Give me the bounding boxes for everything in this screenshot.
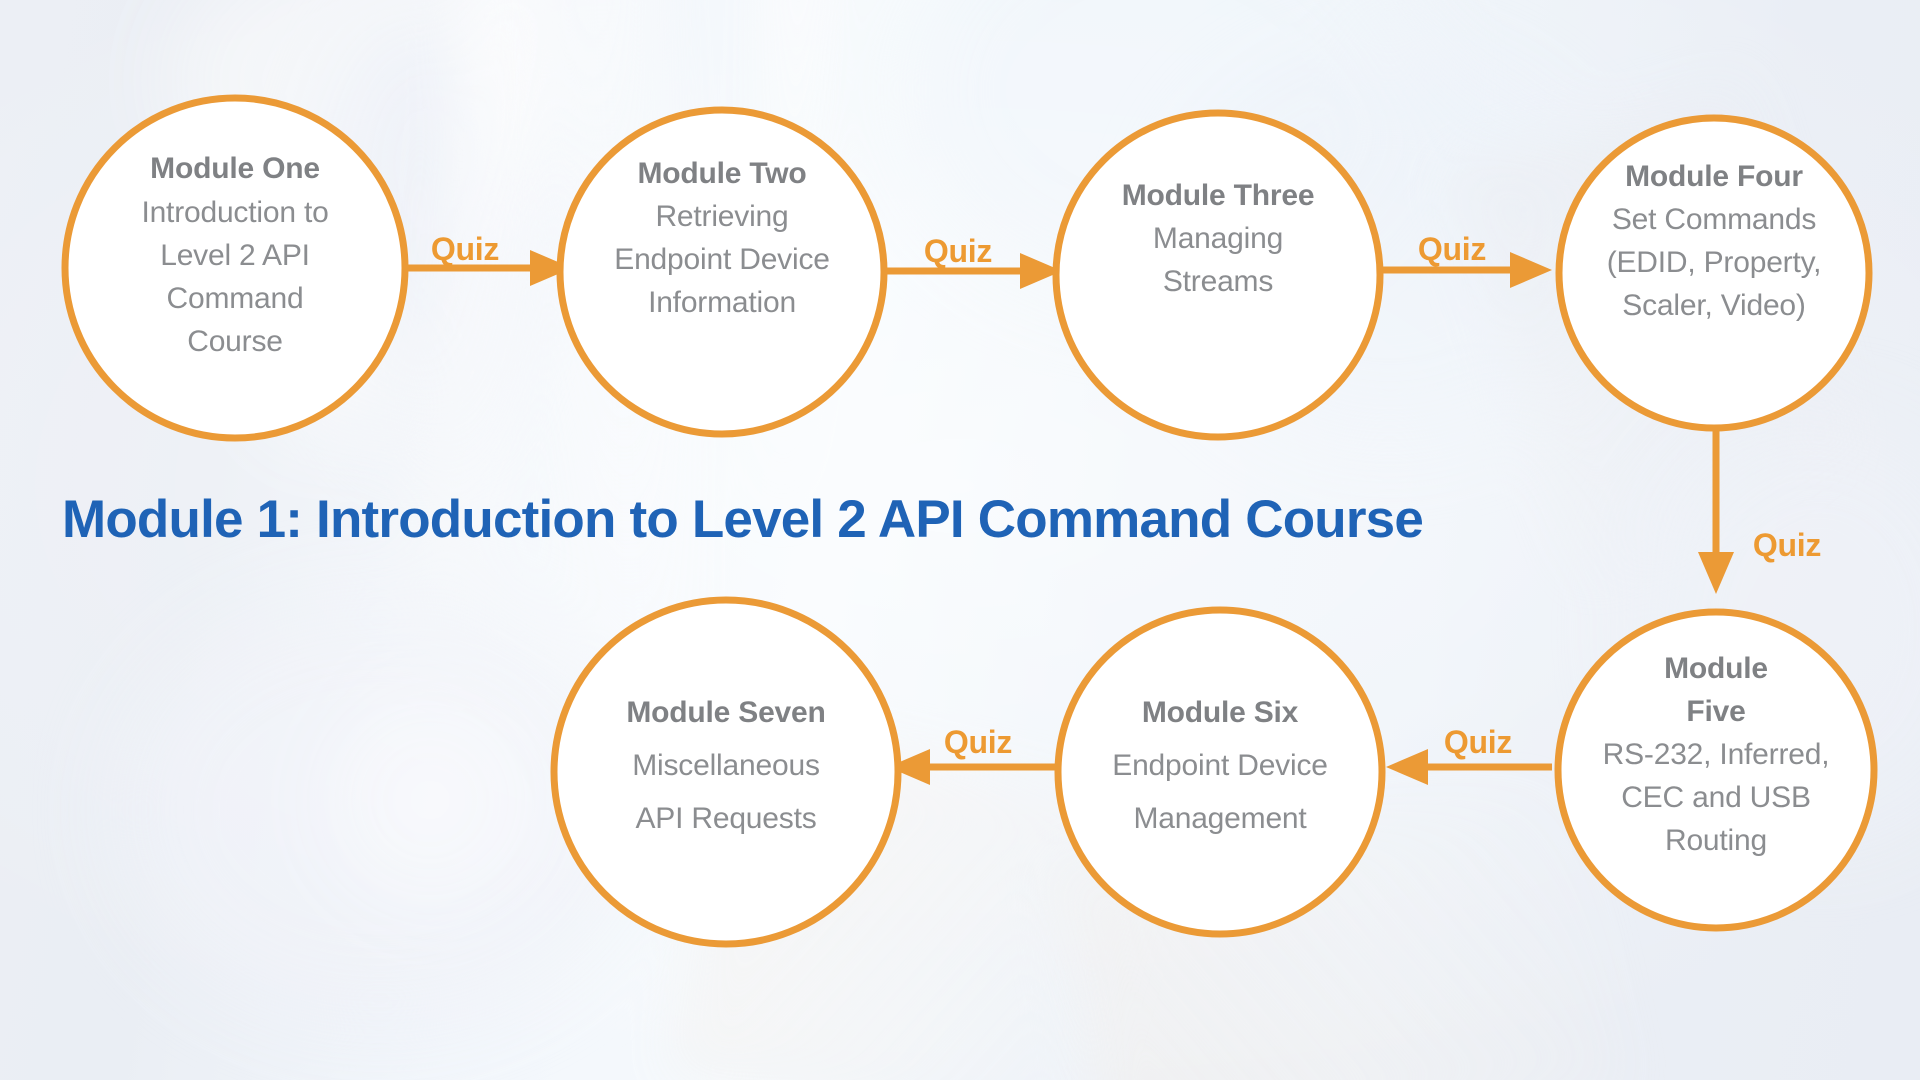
node-desc-line: Scaler, Video) — [1622, 289, 1805, 322]
slide-canvas: Module One Introduction to Level 2 API C… — [0, 0, 1920, 1080]
node-title-module-six: Module Six — [1142, 696, 1299, 729]
node-module-five[interactable]: Module Five RS-232, Inferred, CEC and US… — [1558, 612, 1874, 928]
quiz-label-6-7: Quiz — [944, 724, 1012, 760]
node-title-module-one: Module One — [150, 152, 320, 185]
node-title-module-four: Module Four — [1625, 160, 1803, 193]
quiz-label-5-6: Quiz — [1444, 724, 1512, 760]
node-desc-line: Level 2 API — [160, 239, 310, 272]
quiz-label-3-4: Quiz — [1418, 231, 1486, 267]
node-desc-line: RS-232, Inferred, — [1603, 738, 1830, 771]
node-desc-line: Streams — [1163, 265, 1273, 298]
node-desc-line: CEC and USB — [1621, 781, 1811, 814]
node-module-three[interactable]: Module Three Managing Streams — [1056, 113, 1380, 437]
quiz-label-4-5: Quiz — [1753, 527, 1821, 563]
quiz-label-1-2: Quiz — [431, 231, 499, 267]
node-desc-line: Command — [167, 282, 304, 315]
node-module-one[interactable]: Module One Introduction to Level 2 API C… — [65, 98, 405, 438]
node-desc-line: Endpoint Device — [1112, 749, 1327, 782]
node-desc-line: Miscellaneous — [632, 749, 820, 782]
node-desc-line: Information — [648, 286, 796, 319]
node-title-module-five: Module — [1664, 652, 1768, 685]
quiz-label-2-3: Quiz — [924, 233, 992, 269]
node-desc-line: (EDID, Property, — [1607, 246, 1822, 279]
node-desc-line: API Requests — [635, 802, 816, 835]
node-module-seven[interactable]: Module Seven Miscellaneous API Requests — [554, 600, 898, 944]
node-title-module-three: Module Three — [1122, 179, 1315, 212]
node-title-module-five-second: Five — [1686, 695, 1745, 728]
node-desc-line: Managing — [1153, 222, 1283, 255]
node-title-module-seven: Module Seven — [626, 696, 825, 729]
node-desc-line: Routing — [1665, 824, 1767, 857]
page-title: Module 1: Introduction to Level 2 API Co… — [62, 492, 1423, 548]
node-desc-line: Retrieving — [655, 200, 788, 233]
node-module-six[interactable]: Module Six Endpoint Device Management — [1058, 610, 1382, 934]
connector-quiz-4-5 — [1698, 430, 1734, 594]
node-title-module-two: Module Two — [637, 157, 806, 190]
node-desc-line: Course — [187, 325, 283, 358]
node-desc-line: Introduction to — [141, 196, 328, 229]
node-desc-line: Endpoint Device — [614, 243, 829, 276]
node-module-four[interactable]: Module Four Set Commands (EDID, Property… — [1559, 118, 1869, 428]
node-desc-line: Set Commands — [1612, 203, 1816, 236]
node-desc-line: Management — [1133, 802, 1307, 835]
node-module-two[interactable]: Module Two Retrieving Endpoint Device In… — [560, 110, 884, 434]
